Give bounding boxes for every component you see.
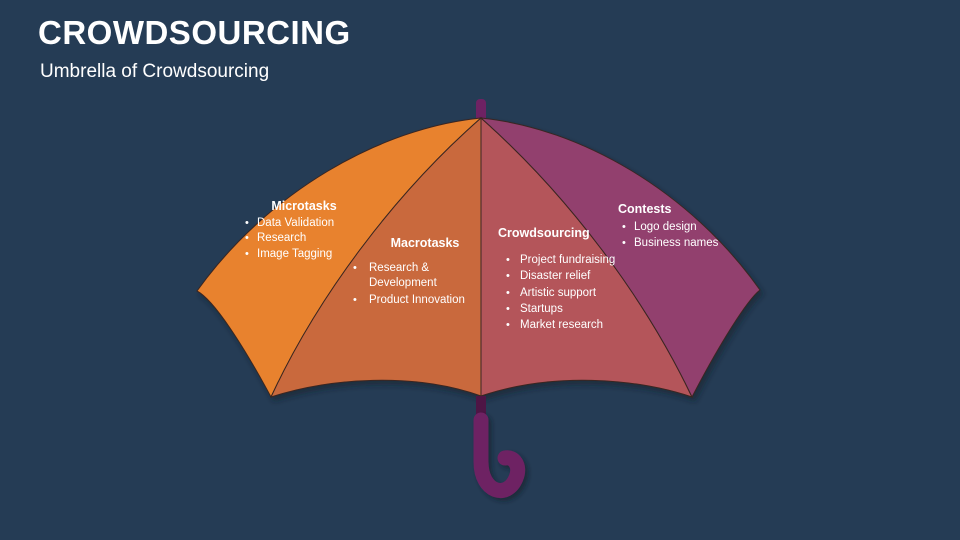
umbrella-handle [481, 420, 518, 491]
panel-list-contests: Logo design Business names [618, 220, 748, 252]
panel-label-crowdsourcing: Crowdsourcing Project fundraising Disast… [498, 226, 638, 334]
list-item: Business names [618, 236, 748, 251]
panel-list-microtasks: Data Validation Research Image Tagging [245, 216, 353, 262]
umbrella-diagram [0, 0, 960, 540]
list-item: Project fundraising [498, 253, 638, 268]
panel-heading-macrotasks: Macrotasks [377, 236, 473, 251]
list-item: Artistic support [498, 286, 638, 301]
list-item: Product Innovation [347, 293, 473, 308]
list-item: Logo design [618, 220, 748, 235]
list-item: Image Tagging [245, 247, 353, 262]
list-item: Market research [498, 318, 638, 333]
panel-label-microtasks: Microtasks Data Validation Research Imag… [245, 199, 353, 262]
list-item: Research [245, 231, 353, 246]
panel-list-macrotasks: Research & Development Product Innovatio… [347, 261, 473, 308]
slide-canvas: CROWDSOURCING Umbrella of Crowdsourcing [0, 0, 960, 540]
list-item: Research & Development [347, 261, 473, 292]
list-item: Data Validation [245, 216, 353, 231]
list-item: Startups [498, 302, 638, 317]
panel-list-crowdsourcing: Project fundraising Disaster relief Arti… [498, 253, 638, 333]
panel-heading-crowdsourcing: Crowdsourcing [498, 226, 638, 241]
panel-heading-contests: Contests [618, 202, 748, 217]
panel-label-contests: Contests Logo design Business names [618, 202, 748, 253]
panel-heading-microtasks: Microtasks [255, 199, 353, 214]
panel-label-macrotasks: Macrotasks Research & Development Produc… [347, 236, 473, 309]
list-item: Disaster relief [498, 269, 638, 284]
